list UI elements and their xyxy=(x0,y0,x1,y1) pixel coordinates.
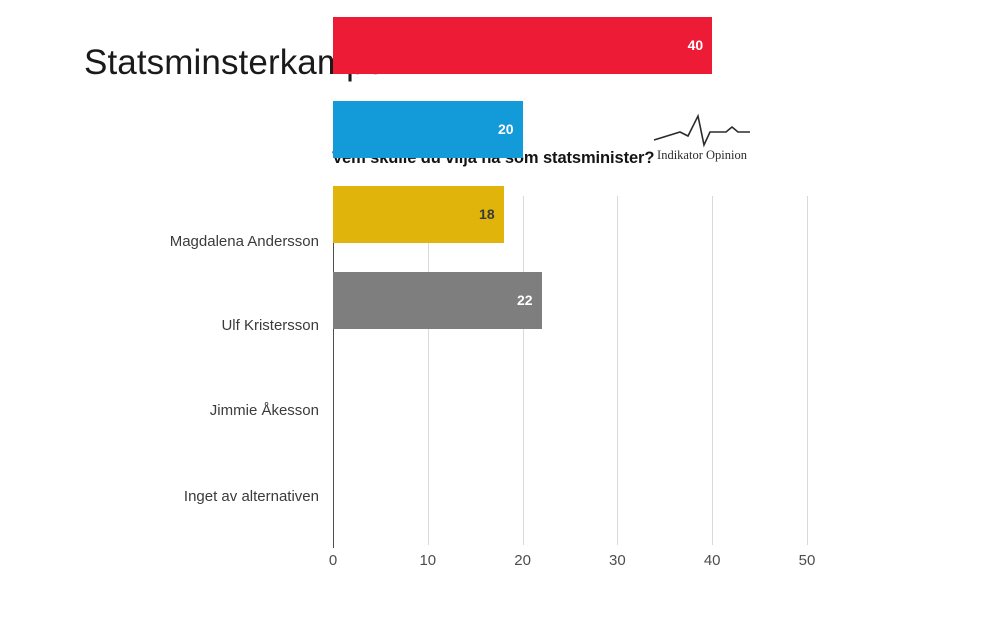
x-axis-tick-label: 50 xyxy=(799,552,816,569)
category-label: Magdalena Andersson xyxy=(23,213,333,270)
gridline xyxy=(428,196,429,545)
ekg-line-icon xyxy=(652,112,752,148)
category-label: Inget av alternativen xyxy=(23,468,333,525)
bar-value-label: 20 xyxy=(498,101,514,158)
x-axis-tick-label: 30 xyxy=(609,552,626,569)
bar-value-label: 18 xyxy=(479,186,495,243)
bar xyxy=(333,272,542,329)
bar-row: 22 xyxy=(333,272,542,329)
bar-value-label: 40 xyxy=(688,17,704,74)
x-axis-tick-label: 20 xyxy=(514,552,531,569)
gridline xyxy=(523,196,524,545)
bar-chart: Vem skulle du vilja ha som statsminister… xyxy=(0,0,1007,630)
bar-value-label: 22 xyxy=(517,272,533,329)
x-axis-tick-label: 10 xyxy=(419,552,436,569)
gridline xyxy=(617,196,618,545)
bar xyxy=(333,17,712,74)
brand-logo: Indikator Opinion xyxy=(652,112,752,168)
bar xyxy=(333,101,523,158)
gridline xyxy=(712,196,713,545)
category-label: Ulf Kristersson xyxy=(23,297,333,354)
bar-row: 18 xyxy=(333,186,504,243)
brand-name: Indikator Opinion xyxy=(652,148,752,163)
x-axis-tick-label: 40 xyxy=(704,552,721,569)
bar xyxy=(333,186,504,243)
plot-area xyxy=(333,196,807,545)
bar-row: 40 xyxy=(333,17,712,74)
category-label: Jimmie Åkesson xyxy=(23,382,333,439)
bar-row: 20 xyxy=(333,101,523,158)
gridline xyxy=(807,196,808,545)
x-axis-tick-label: 0 xyxy=(329,552,337,569)
